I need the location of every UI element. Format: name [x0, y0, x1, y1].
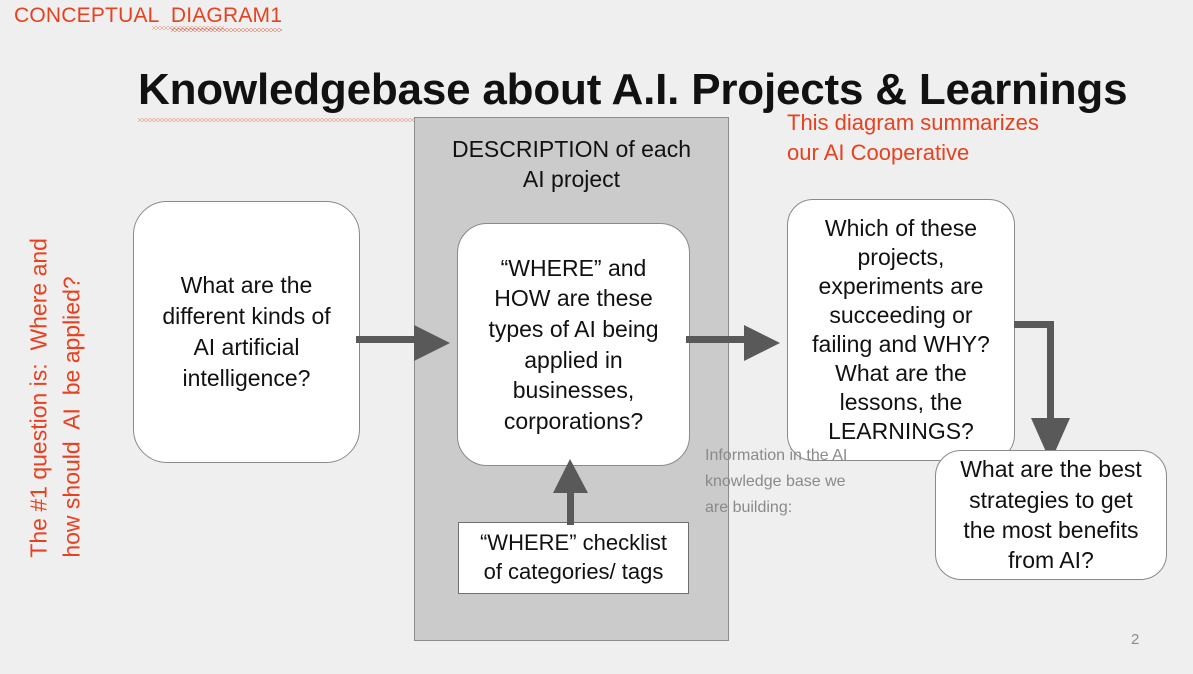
slide-canvas: CONCEPTUAL DIAGRAM1 Knowledgebase about …: [0, 0, 1193, 674]
box-where-checklist[interactable]: “WHERE” checklist of categories/ tags: [458, 522, 689, 594]
arrow-where-to-succeed-icon: [686, 322, 790, 366]
arrow-succeed-to-strategies-icon: [1014, 320, 1074, 470]
box-kinds-of-ai[interactable]: What are the different kinds of AI artif…: [133, 201, 360, 463]
description-panel-title: DESCRIPTION of each AI project: [415, 134, 728, 195]
side-note-question: The #1 question is: Where and how should…: [22, 158, 87, 558]
diagram-summary-annotation: This diagram summarizes our AI Cooperati…: [787, 108, 1087, 169]
page-number: 2: [1131, 631, 1139, 648]
box-succeeding-or-failing[interactable]: Which of these projects, experiments are…: [787, 199, 1015, 461]
conceptual-diagram-kicker: CONCEPTUAL DIAGRAM1: [14, 4, 282, 28]
arrow-kinds-to-where-icon: [356, 322, 460, 366]
title-spellcheck-top-squiggle: [152, 26, 224, 30]
box-where-and-how-applied[interactable]: “WHERE” and HOW are these types of AI be…: [457, 223, 690, 466]
title-misspelled-word: Knowledgebase: [138, 65, 470, 115]
arrow-checklist-to-where-icon: [552, 459, 594, 525]
kicker-prefix-text: CONCEPTUAL: [14, 4, 171, 27]
knowledge-base-caption: Information in the AI knowledge base we …: [705, 443, 905, 521]
box-best-strategies[interactable]: What are the best strategies to get the …: [935, 450, 1167, 580]
kicker-misspelled-word: DIAGRAM1: [171, 4, 282, 28]
